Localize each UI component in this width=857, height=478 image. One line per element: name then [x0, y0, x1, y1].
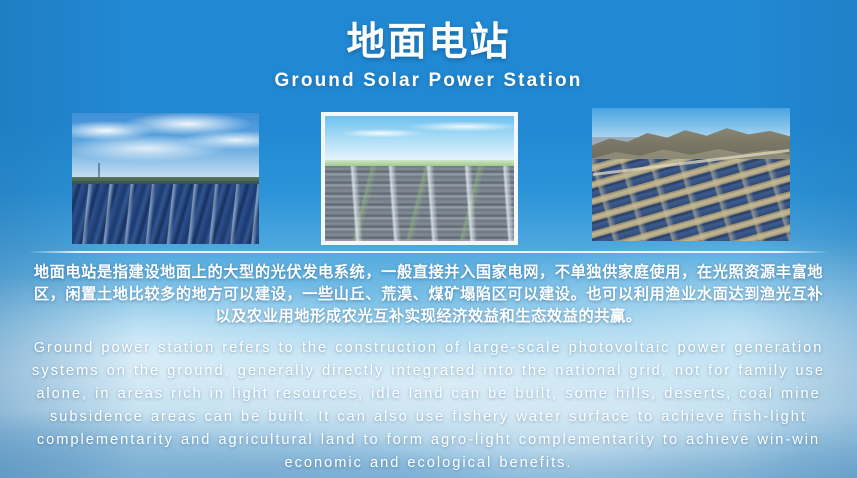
photo1-pylon [98, 163, 100, 179]
header: 地面电站 Ground Solar Power Station [0, 22, 857, 93]
description-block: 地面电站是指建设地面上的大型的光伏发电系统，一般直接并入国家电网，不单独供家庭使… [28, 262, 829, 475]
description-english: Ground power station refers to the const… [28, 337, 829, 475]
page-title-english: Ground Solar Power Station [0, 70, 857, 93]
section-divider [30, 251, 827, 253]
gallery-image-1 [72, 113, 259, 244]
photo2-sky [325, 116, 514, 164]
photo-gallery [0, 108, 857, 248]
photo-aerial-pv-farm [325, 116, 514, 241]
description-chinese: 地面电站是指建设地面上的大型的光伏发电系统，一般直接并入国家电网，不单独供家庭使… [28, 262, 829, 328]
gallery-image-3 [592, 108, 790, 241]
slide-ground-solar-power-station: 地面电站 Ground Solar Power Station [0, 0, 857, 478]
photo-flat-blue-pv-array [72, 113, 259, 244]
photo2-panel-rows [325, 166, 514, 241]
page-title-chinese: 地面电站 [0, 22, 857, 64]
photo-mountain-pv-farm [592, 108, 790, 241]
gallery-image-2 [321, 112, 518, 245]
photo1-panel-field [72, 184, 259, 244]
